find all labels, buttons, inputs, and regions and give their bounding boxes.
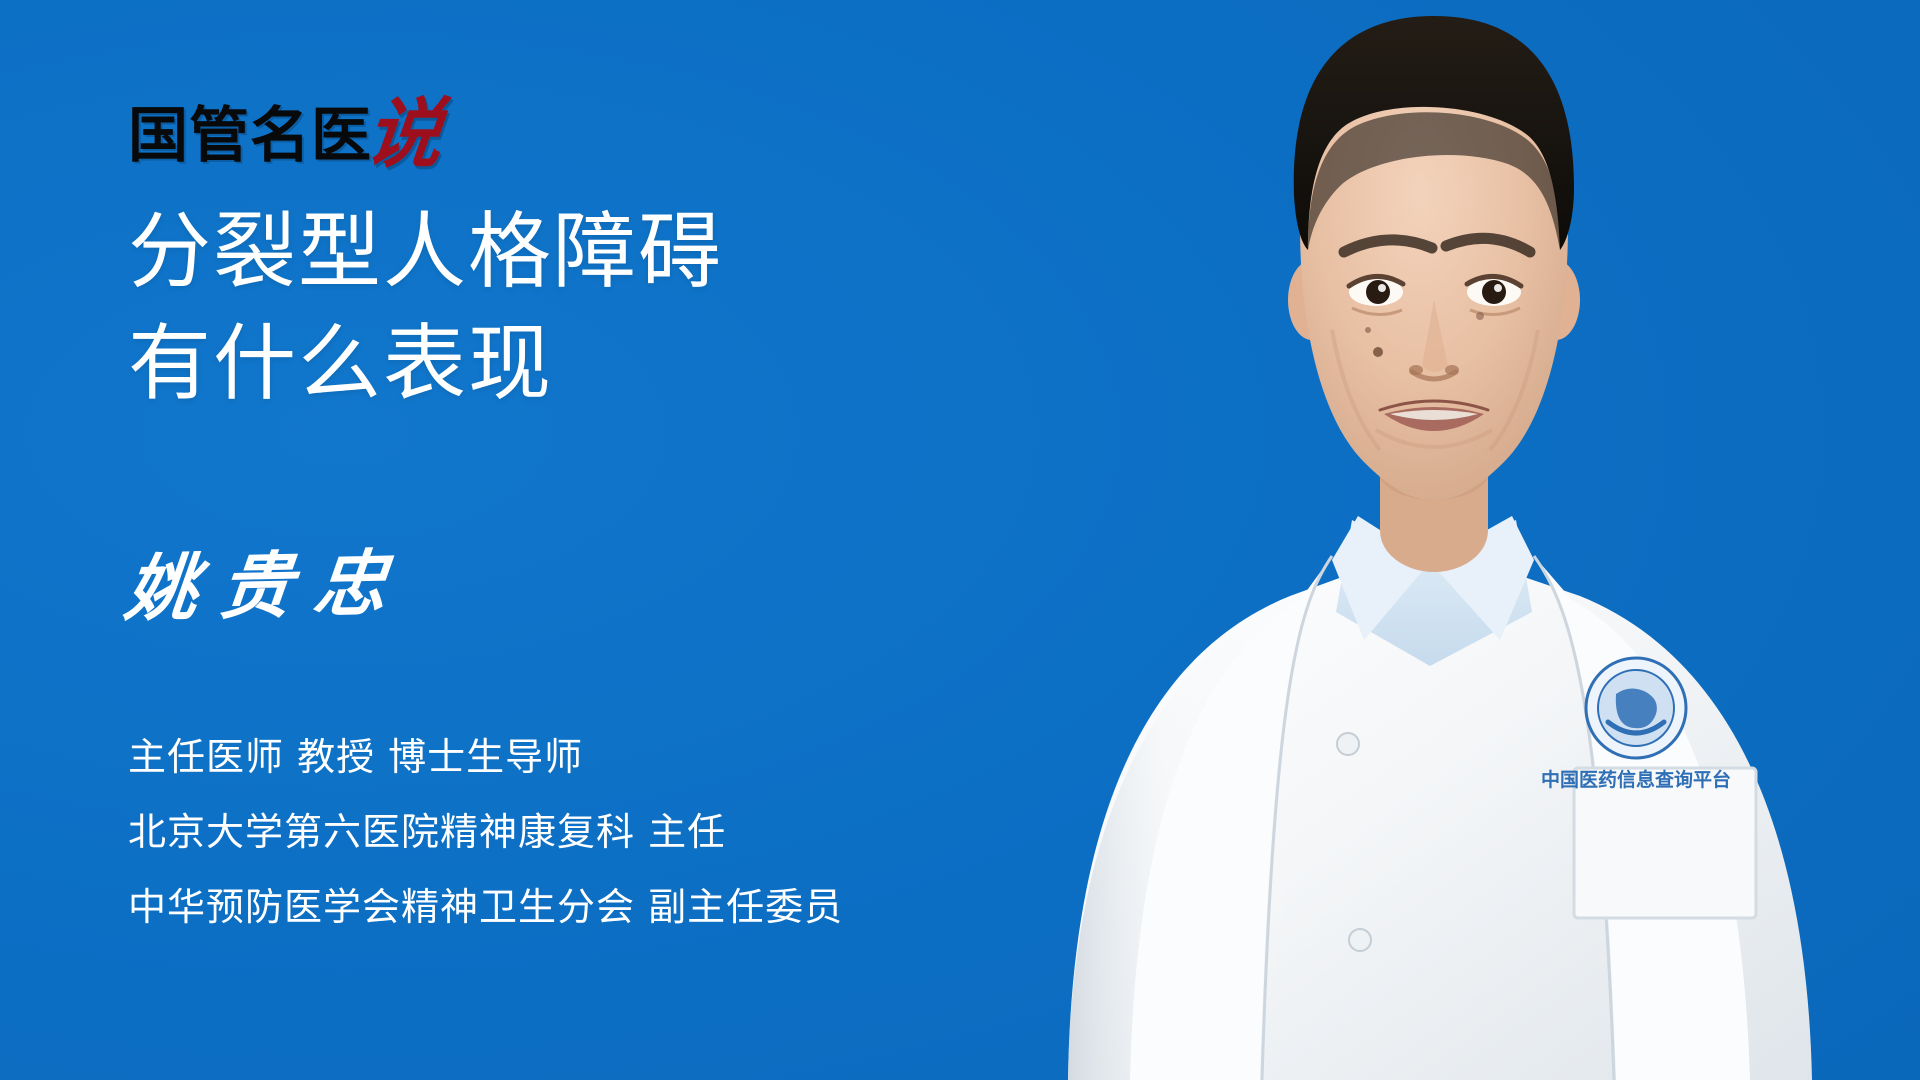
doctor-name: 姚贵忠 [122,547,412,625]
title-line-2: 有什么表现 [128,308,723,420]
doctor-credentials: 主任医师 教授 博士生导师 北京大学第六医院精神康复科 主任 中华预防医学会精神… [128,720,843,945]
credential-line: 北京大学第六医院精神康复科 主任 [128,795,843,870]
title-card: 中国医药信息查询平台 [0,0,1920,1080]
credential-line: 中华预防医学会精神卫生分会 副主任委员 [128,870,843,945]
brand-logo-main: 国管名医 [128,106,372,166]
brand-logo: 国管名医 说 [128,92,442,168]
title-line-1: 分裂型人格障碍 [128,196,723,308]
svg-text:中国医药信息查询平台: 中国医药信息查询平台 [1541,768,1731,791]
credential-line: 主任医师 教授 博士生导师 [128,720,843,795]
brand-logo-accent: 说 [362,96,446,172]
page-title: 分裂型人格障碍 有什么表现 [128,196,723,420]
doctor-portrait: 中国医药信息查询平台 [960,0,1920,1080]
